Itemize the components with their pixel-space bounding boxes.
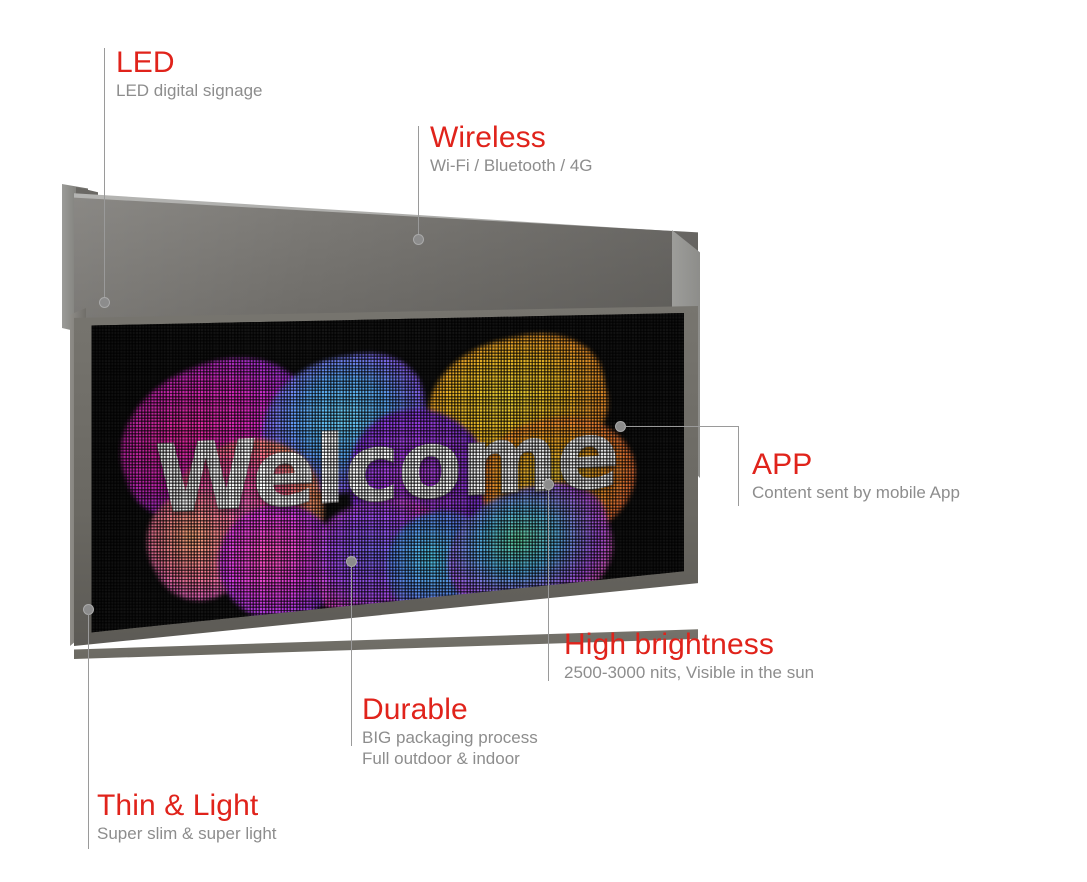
- leader-line-led: [104, 48, 105, 300]
- callout-durable-sub: BIG packaging process: [362, 727, 538, 748]
- leader-line-app-vertical: [738, 426, 739, 506]
- callout-app[interactable]: APP Content sent by mobile App: [752, 448, 960, 503]
- callout-durable[interactable]: Durable BIG packaging process Full outdo…: [362, 693, 538, 769]
- callout-app-title: APP: [752, 448, 960, 482]
- callout-thin-light[interactable]: Thin & Light Super slim & super light: [97, 789, 277, 844]
- callout-durable-sub2: Full outdoor & indoor: [362, 748, 538, 769]
- callout-high-brightness[interactable]: High brightness 2500-3000 nits, Visible …: [564, 628, 814, 683]
- leader-line-durable: [351, 566, 352, 746]
- leader-line-high-brightness: [548, 489, 549, 681]
- leader-line-app-horizontal: [624, 426, 738, 427]
- callout-wireless-title: Wireless: [430, 121, 593, 155]
- callout-app-sub: Content sent by mobile App: [752, 482, 960, 503]
- leader-line-wireless: [418, 126, 419, 238]
- callout-high-brightness-sub: 2500-3000 nits, Visible in the sun: [564, 662, 814, 683]
- callout-led-title: LED: [116, 46, 262, 80]
- callout-high-brightness-title: High brightness: [564, 628, 814, 662]
- led-sign-product-image: Welcome: [60, 176, 700, 656]
- callout-wireless[interactable]: Wireless Wi-Fi / Bluetooth / 4G: [430, 121, 593, 176]
- callout-durable-title: Durable: [362, 693, 538, 727]
- callout-led[interactable]: LED LED digital signage: [116, 46, 262, 101]
- callout-led-sub: LED digital signage: [116, 80, 262, 101]
- callout-dot-led: [99, 297, 110, 308]
- callout-thin-light-title: Thin & Light: [97, 789, 277, 823]
- callout-thin-light-sub: Super slim & super light: [97, 823, 277, 844]
- leader-line-thin-light: [88, 614, 89, 849]
- infographic-canvas: Welcome LED LED digital signage Wireless…: [0, 0, 1087, 882]
- callout-dot-wireless: [413, 234, 424, 245]
- callout-wireless-sub: Wi-Fi / Bluetooth / 4G: [430, 155, 593, 176]
